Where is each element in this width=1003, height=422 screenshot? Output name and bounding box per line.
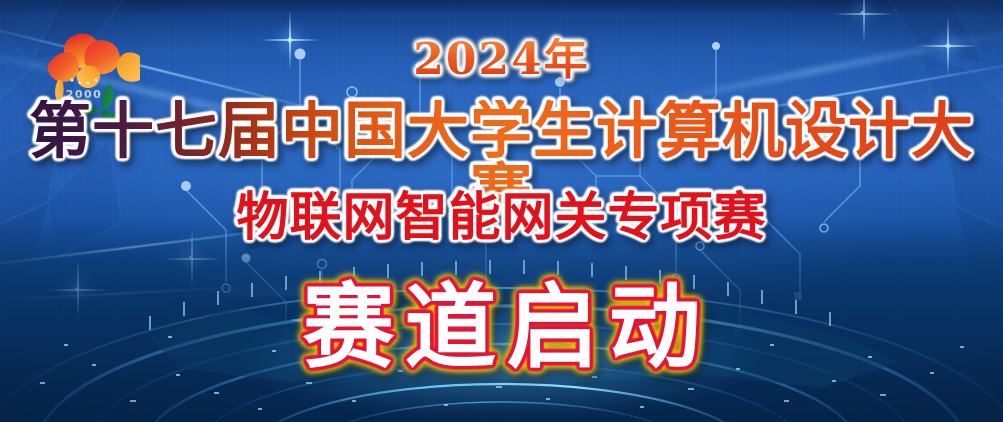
subtitle-line: 物联网智能网关专项赛 [0,192,1003,244]
cta-line: 赛道启动 [0,282,1003,374]
year-line: 2024年 [0,38,1003,82]
event-banner: 2000 2024年 第十七届中国大学生计算机设计大赛 物联网智能网关专项赛 赛… [0,0,1003,422]
